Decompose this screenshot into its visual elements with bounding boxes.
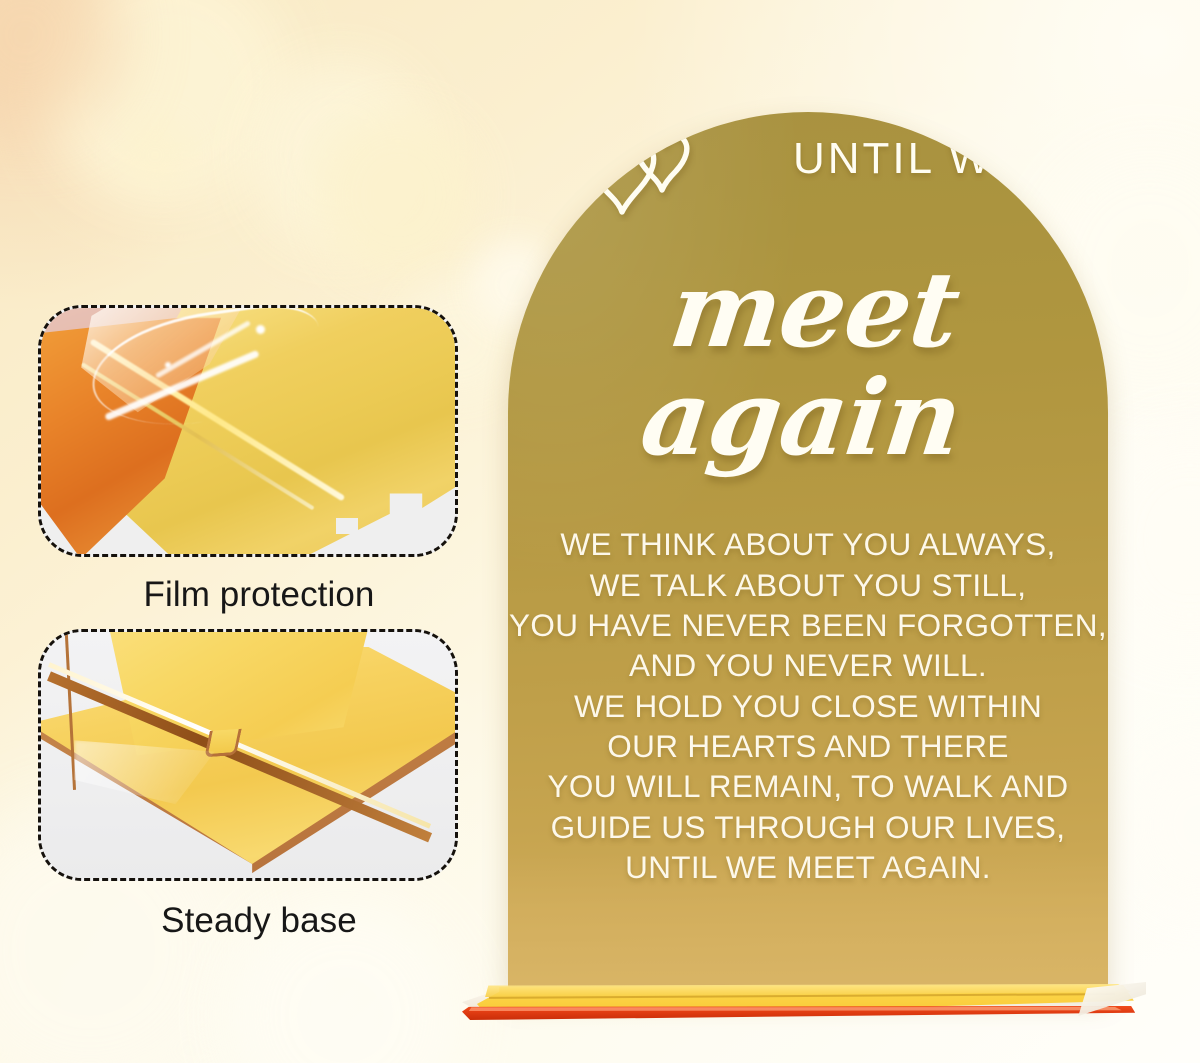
feature-list: Film protection Steady base (38, 305, 480, 955)
steady-base-photo (41, 632, 455, 878)
poem-line: OUR HEARTS AND THERE (508, 726, 1108, 766)
poem-line: UNTIL WE MEET AGAIN. (508, 847, 1108, 887)
bokeh-circle (250, 60, 430, 250)
feature-film-protection: Film protection (38, 305, 480, 615)
plaque-content: UNTIL WE meet again WE THINK ABOUT YOU A… (508, 112, 1108, 994)
feature-caption: Film protection (38, 575, 480, 615)
plaque-heading-row: UNTIL WE (508, 112, 1108, 262)
bokeh-circle (120, 120, 190, 190)
poem-line: YOU HAVE NEVER BEEN FORGOTTEN, (508, 605, 1108, 645)
product-image-canvas: Film protection Steady base (0, 0, 1200, 1063)
double-hearts-icon (566, 126, 696, 222)
poem-line: GUIDE US THROUGH OUR LIVES, (508, 807, 1108, 847)
bokeh-circle (0, 0, 120, 130)
poem-line: WE TALK ABOUT YOU STILL, (508, 565, 1108, 605)
plaque-surface: UNTIL WE meet again WE THINK ABOUT YOU A… (508, 112, 1108, 994)
bokeh-circle (318, 110, 478, 280)
feature-steady-base: Steady base (38, 629, 480, 941)
plaque-poem: WE THINK ABOUT YOU ALWAYS, WE TALK ABOUT… (508, 524, 1108, 887)
bokeh-circle (1120, 740, 1200, 910)
plaque-script-line: meet again (508, 256, 1108, 472)
feature-caption: Steady base (38, 901, 480, 941)
plaque-heading: UNTIL WE (793, 134, 1026, 184)
steady-base-image-frame (38, 629, 458, 881)
poem-line: WE HOLD YOU CLOSE WITHIN (508, 686, 1108, 726)
acrylic-stand-base (462, 982, 1142, 1044)
poem-line: YOU WILL REMAIN, TO WALK AND (508, 766, 1108, 806)
poem-line: WE THINK ABOUT YOU ALWAYS, (508, 524, 1108, 564)
bokeh-circle (40, 0, 290, 210)
poem-line: AND YOU NEVER WILL. (508, 645, 1108, 685)
film-peel-photo (41, 308, 455, 554)
film-protection-image-frame (38, 305, 458, 557)
arch-plaque: UNTIL WE meet again WE THINK ABOUT YOU A… (508, 112, 1108, 994)
